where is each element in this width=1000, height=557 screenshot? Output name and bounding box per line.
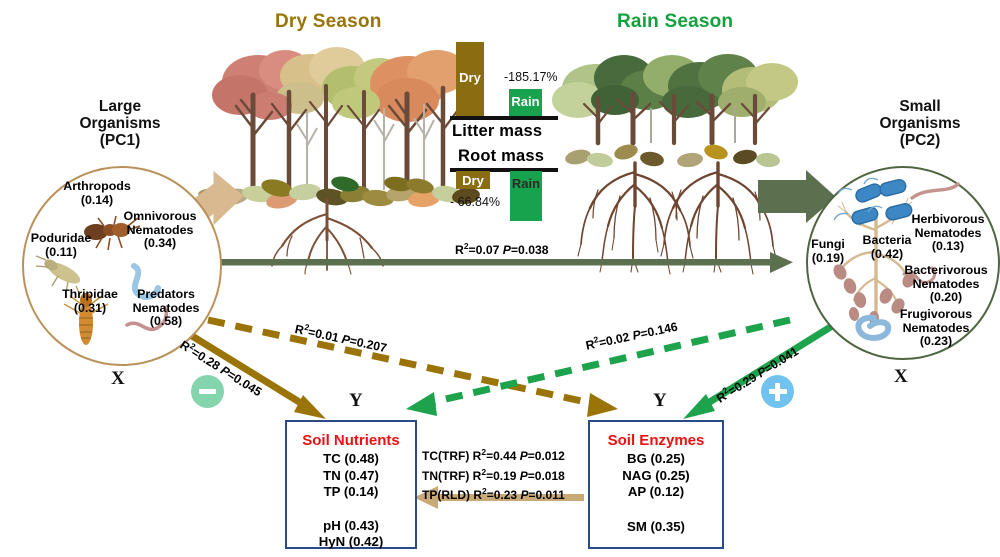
taxon-bacteria-value: (0.42)	[871, 247, 903, 261]
minus-glyph	[199, 389, 216, 394]
stat-tp-rld: TP(RLD) R2=0.23 P=0.011	[422, 484, 565, 504]
taxon-pred-line2: Nematodes	[126, 302, 206, 316]
nutrient-item-hyn: HyN (0.42)	[287, 534, 415, 551]
taxon-bact-line1: Bacterivorous	[896, 264, 996, 278]
diagram-canvas: Dry Season Rain Season	[0, 0, 1000, 557]
nutrient-item-tn: TN (0.47)	[287, 468, 415, 485]
nutrients-y-axis-label: Y	[349, 390, 363, 412]
nutrient-item-tp: TP (0.14)	[287, 484, 415, 501]
right-x-axis-label: X	[894, 366, 908, 388]
taxon-herbivorous-nematodes: Herbivorous Nematodes (0.13)	[900, 213, 996, 254]
taxon-omn-line2: Nematodes	[117, 224, 203, 238]
taxon-fungi-name: Fungi	[811, 237, 845, 251]
soil-nutrients-title: Soil Nutrients	[287, 432, 415, 449]
large-organisms-title-line1: Large	[45, 98, 195, 115]
dry-season-forest-illustration	[197, 47, 481, 274]
rain-litter-layer	[564, 142, 781, 169]
large-organisms-title: Large Organisms (PC1)	[45, 98, 195, 149]
plus-glyph-vertical	[775, 383, 781, 401]
litter-mass-title: Litter mass	[452, 122, 542, 141]
nutrient-item-tc: TC (0.48)	[287, 451, 415, 468]
taxon-poduridae: Poduridae (0.11)	[18, 232, 104, 259]
small-organisms-title-line2: Organisms	[845, 115, 995, 132]
litter-dry-bar-label: Dry	[458, 70, 482, 85]
stat-tc-trf: TC(TRF) R2=0.44 P=0.012	[422, 445, 565, 465]
taxon-arthropods-name: Arthropods	[63, 179, 130, 193]
soil-nutrients-panel[interactable]: Soil Nutrients TC (0.48) TN (0.47) TP (0…	[285, 420, 417, 549]
taxon-poduridae-name: Poduridae	[31, 231, 92, 245]
small-organisms-title: Small Organisms (PC2)	[845, 98, 995, 149]
minus-badge	[191, 375, 224, 408]
soil-enzymes-panel[interactable]: Soil Enzymes BG (0.25) NAG (0.25) AP (0.…	[588, 420, 724, 549]
rain-season-forest-illustration	[552, 54, 798, 274]
taxon-thripidae: Thripidae (0.31)	[50, 288, 130, 315]
taxon-fungi: Fungi (0.19)	[798, 238, 858, 265]
arrow-brown-dashed-left-to-enzymes	[208, 320, 618, 417]
taxon-herb-line2: Nematodes	[900, 227, 996, 241]
taxon-frug-value: (0.23)	[888, 335, 984, 349]
taxon-arthropods-value: (0.14)	[81, 193, 113, 207]
taxon-arthropods: Arthropods (0.14)	[47, 180, 147, 207]
large-organisms-title-line3: (PC1)	[45, 132, 195, 149]
taxon-omn-line1: Omnivorous	[117, 210, 203, 224]
taxon-omnivorous-nematodes: Omnivorous Nematodes (0.34)	[117, 210, 203, 251]
root-dry-bar-label: Dry	[456, 173, 490, 188]
rain-root-illustration-2	[661, 163, 776, 274]
enzyme-item-bg: BG (0.25)	[590, 451, 722, 468]
herbivorous-nematode-icon	[912, 184, 958, 198]
taxon-frug-line2: Nematodes	[888, 322, 984, 336]
small-organisms-title-line3: (PC2)	[845, 132, 995, 149]
enzymes-to-nutrients-stats: TC(TRF) R2=0.44 P=0.012 TN(TRF) R2=0.19 …	[422, 445, 565, 504]
taxon-frug-line1: Frugivorous	[888, 308, 984, 322]
small-organisms-title-line1: Small	[845, 98, 995, 115]
large-organisms-title-line2: Organisms	[45, 115, 195, 132]
taxon-thripidae-name: Thripidae	[62, 287, 118, 301]
taxon-bacterivorous-nematodes: Bacterivorous Nematodes (0.20)	[896, 264, 996, 305]
litter-rain-bar-label: Rain	[509, 94, 542, 109]
left-x-axis-label: X	[111, 368, 125, 390]
root-rain-bar-label: Rain	[510, 176, 542, 191]
taxon-herb-value: (0.13)	[900, 240, 996, 254]
taxon-thripidae-value: (0.31)	[74, 301, 106, 315]
stat-tn-trf: TN(TRF) R2=0.19 P=0.018	[422, 465, 565, 485]
mass-comparison-panel: Dry Rain -185.17% Litter mass Root mass …	[440, 32, 570, 222]
enzyme-item-sm: SM (0.35)	[590, 519, 722, 536]
taxon-pred-value: (0.58)	[126, 315, 206, 329]
taxon-poduridae-value: (0.11)	[45, 245, 77, 259]
taxon-pred-line1: Predators	[126, 288, 206, 302]
litter-baseline	[450, 116, 558, 120]
taxon-herb-line1: Herbivorous	[900, 213, 996, 227]
taxon-predators-nematodes: Predators Nematodes (0.58)	[126, 288, 206, 329]
taxon-bact-line2: Nematodes	[896, 278, 996, 292]
nutrient-item-ph: pH (0.43)	[287, 518, 415, 535]
frugivorous-nematode-icon	[858, 318, 888, 338]
soil-enzymes-title: Soil Enzymes	[590, 432, 722, 449]
root-change-annotation: - 66.84%	[450, 195, 500, 209]
litter-change-annotation: -185.17%	[504, 70, 558, 84]
root-mass-title: Root mass	[458, 147, 544, 166]
taxon-frugivorous-nematodes: Frugivorous Nematodes (0.23)	[888, 308, 984, 349]
plus-badge	[761, 375, 794, 408]
enzymes-y-axis-label: Y	[653, 390, 667, 412]
taxon-bact-value: (0.20)	[896, 291, 996, 305]
taxon-fungi-value: (0.19)	[812, 251, 844, 265]
taxon-omn-value: (0.34)	[117, 237, 203, 251]
enzyme-item-nag: NAG (0.25)	[590, 468, 722, 485]
enzyme-item-ap: AP (0.12)	[590, 484, 722, 501]
stat-main-green-path: R2=0.07 P=0.038	[455, 241, 549, 257]
